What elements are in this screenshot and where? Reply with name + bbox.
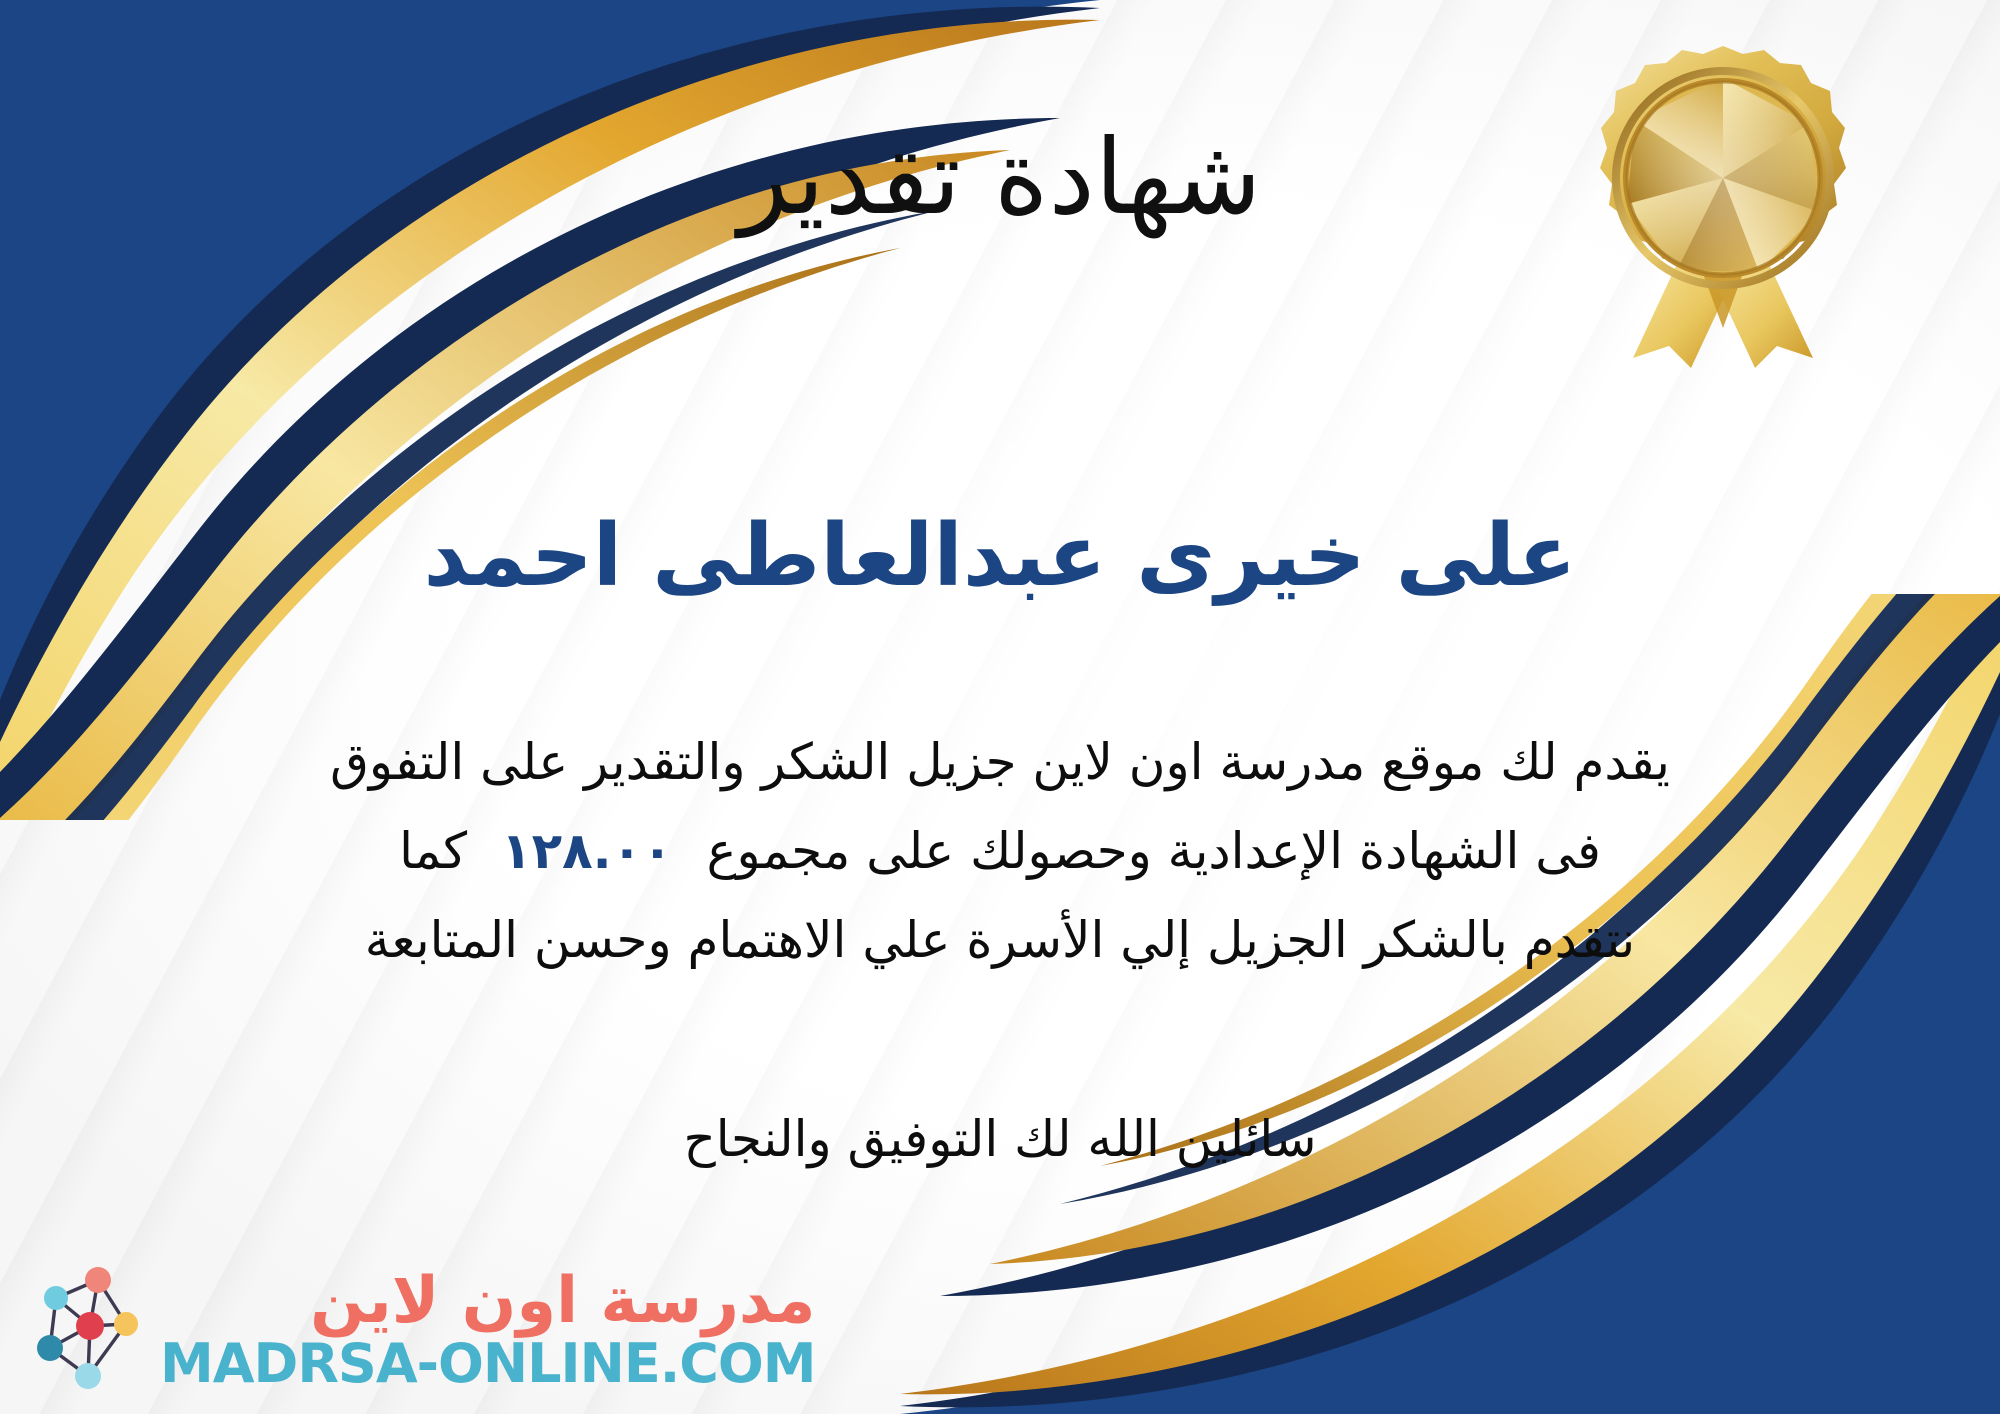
brand-website-url[interactable]: MADRSA-ONLINE.COM (160, 1337, 816, 1391)
brand-text: مدرسة اون لاين MADRSA-ONLINE.COM (160, 1269, 816, 1391)
body-line-3: نتقدم بالشكر الجزيل إلي الأسرة علي الاهت… (80, 896, 1920, 985)
body-line-2-prefix: فى الشهادة الإعدادية وحصولك على مجموع (707, 822, 1601, 880)
body-line-1: يقدم لك موقع مدرسة اون لاين جزيل الشكر و… (80, 718, 1920, 807)
certificate-page: شهادة تقدير على خيرى عبدالعاطى احمد يقدم… (0, 0, 2000, 1414)
body-line-2: فى الشهادة الإعدادية وحصولك على مجموع١٢٨… (80, 807, 1920, 896)
closing-wish: سائلين الله لك التوفيق والنجاح (0, 1110, 2000, 1168)
certificate-body: يقدم لك موقع مدرسة اون لاين جزيل الشكر و… (80, 718, 1920, 985)
brand-name-arabic: مدرسة اون لاين (310, 1269, 815, 1333)
network-graph-icon (26, 1264, 146, 1396)
certificate-title: شهادة تقدير (0, 118, 2000, 238)
recipient-name: على خيرى عبدالعاطى احمد (0, 505, 2000, 608)
total-score-value: ١٢٨.٠٠ (467, 822, 707, 880)
body-line-2-suffix: كما (399, 822, 467, 880)
brand-logo[interactable]: مدرسة اون لاين MADRSA-ONLINE.COM (26, 1264, 816, 1396)
corner-ornament-bottom-right (900, 594, 2000, 1414)
